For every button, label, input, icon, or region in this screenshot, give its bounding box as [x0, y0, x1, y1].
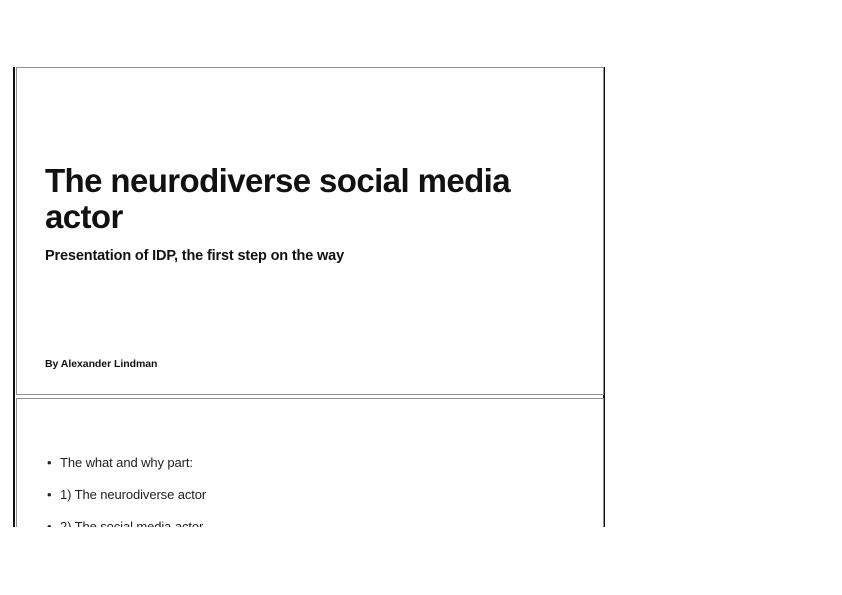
slide-2-bullet-list: • The what and why part: • 1) The neurod… [45, 455, 206, 527]
bullet-icon: • [47, 519, 51, 527]
list-item: • The what and why part: [45, 455, 206, 471]
page-spine-left [13, 67, 15, 527]
slide-page-2[interactable]: • The what and why part: • 1) The neurod… [16, 398, 604, 527]
bullet-icon: • [47, 487, 51, 503]
bullet-icon: • [47, 455, 51, 471]
list-item: • 1) The neurodiverse actor [45, 487, 206, 503]
list-item-label: 1) The neurodiverse actor [60, 487, 206, 502]
slide-subtitle: Presentation of IDP, the first step on t… [45, 247, 344, 266]
slide-2-content: • The what and why part: • 1) The neurod… [17, 399, 603, 527]
list-item-label: The what and why part: [60, 455, 193, 470]
list-item: • 2) The social media actor [45, 519, 206, 527]
slide-page-1[interactable]: The neurodiverse social media actor Pres… [16, 67, 604, 395]
list-item-label: 2) The social media actor [60, 519, 203, 527]
slide-1-content: The neurodiverse social media actor Pres… [17, 68, 603, 394]
document-viewport[interactable]: The neurodiverse social media actor Pres… [0, 0, 842, 527]
slide-title: The neurodiverse social media actor [45, 163, 555, 235]
slide-author: By Alexander Lindman [45, 357, 157, 371]
